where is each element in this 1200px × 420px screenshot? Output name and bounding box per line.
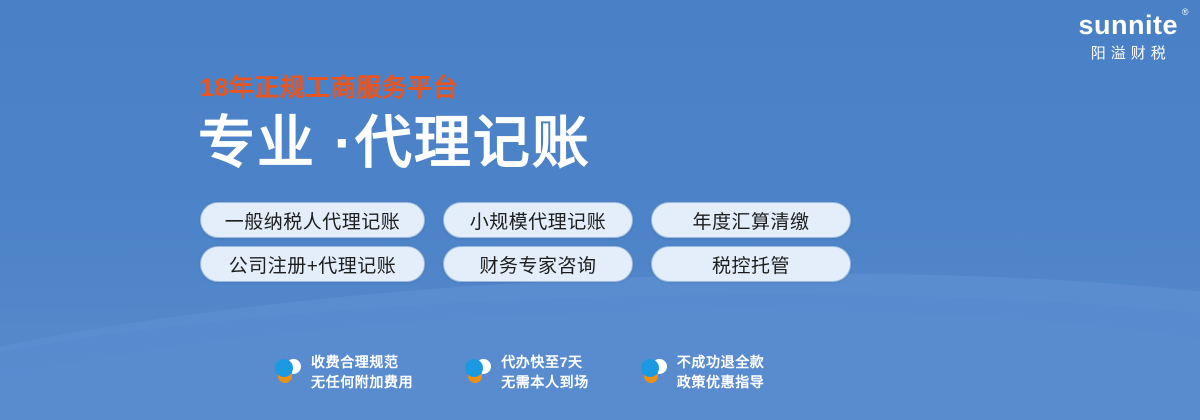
service-pill-row: 公司注册+代理记账 财务专家咨询 税控托管 — [200, 246, 851, 282]
hero-headline: 专业 ·代理记账 — [198, 113, 591, 175]
dual-circle-icon — [275, 357, 301, 387]
feature-item-speed: 代办快至7天 无需本人到场 — [465, 352, 589, 393]
service-pill-general-taxpayer[interactable]: 一般纳税人代理记账 — [200, 202, 425, 238]
dual-circle-icon — [641, 357, 667, 387]
service-pill-company-registration[interactable]: 公司注册+代理记账 — [200, 246, 425, 282]
service-pill-finance-consulting[interactable]: 财务专家咨询 — [443, 246, 633, 282]
service-pill-annual-settlement[interactable]: 年度汇算清缴 — [651, 202, 851, 238]
brand-logo-chinese: 阳溢财税 — [1078, 46, 1178, 61]
hero-kicker: 18年正规工商服务平台 — [200, 76, 458, 101]
feature-list: 收费合理规范 无任何附加费用 代办快至7天 无需本人到场 不成功退全款 — [275, 352, 764, 393]
feature-text-guarantee: 不成功退全款 政策优惠指导 — [677, 352, 765, 393]
brand-logo[interactable]: sunnite ® 阳溢财税 — [1078, 12, 1178, 61]
background-wave-thin — [0, 278, 1200, 420]
service-pill-grid: 一般纳税人代理记账 小规模代理记账 年度汇算清缴 公司注册+代理记账 财务专家咨… — [200, 202, 851, 290]
brand-logo-wordmark: sunnite ® — [1078, 12, 1178, 39]
registered-trademark-icon: ® — [1182, 8, 1189, 17]
feature-item-pricing: 收费合理规范 无任何附加费用 — [275, 352, 413, 393]
service-pill-tax-control-hosting[interactable]: 税控托管 — [651, 246, 851, 282]
feature-line-2: 政策优惠指导 — [677, 372, 765, 392]
feature-text-pricing: 收费合理规范 无任何附加费用 — [311, 352, 413, 393]
feature-line-2: 无任何附加费用 — [311, 372, 413, 392]
feature-line-1: 不成功退全款 — [677, 352, 765, 372]
brand-logo-text: sunnite — [1078, 10, 1178, 40]
dual-circle-icon-cyan — [641, 359, 659, 377]
feature-line-2: 无需本人到场 — [501, 372, 589, 392]
feature-item-guarantee: 不成功退全款 政策优惠指导 — [641, 352, 765, 393]
promo-banner: sunnite ® 阳溢财税 18年正规工商服务平台 专业 ·代理记账 一般纳税… — [0, 0, 1200, 420]
dual-circle-icon — [465, 357, 491, 387]
feature-line-1: 收费合理规范 — [311, 352, 413, 372]
service-pill-row: 一般纳税人代理记账 小规模代理记账 年度汇算清缴 — [200, 202, 851, 238]
service-pill-small-scale[interactable]: 小规模代理记账 — [443, 202, 633, 238]
feature-line-1: 代办快至7天 — [501, 352, 589, 372]
feature-text-speed: 代办快至7天 无需本人到场 — [501, 352, 589, 393]
